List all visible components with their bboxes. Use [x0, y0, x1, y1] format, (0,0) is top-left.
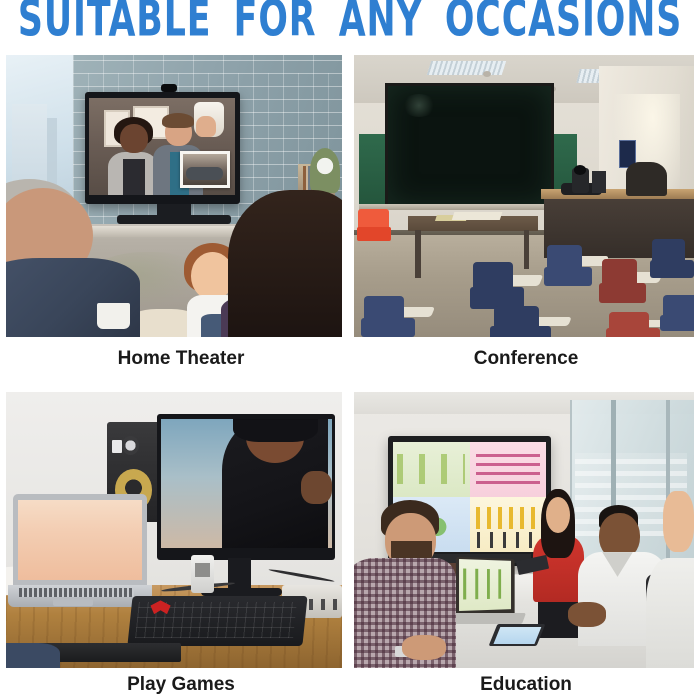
ceiling-vent — [427, 61, 506, 75]
table-leg — [415, 230, 420, 278]
presenter-face — [546, 497, 570, 533]
person-leg — [6, 643, 60, 668]
chair-seat — [544, 267, 592, 286]
home-theater-photo — [6, 55, 342, 337]
caller-shirt — [123, 159, 145, 196]
speaker-port — [112, 440, 122, 452]
desk-chair — [470, 258, 524, 309]
chair-seat — [599, 283, 647, 303]
desk-chair — [599, 255, 647, 303]
laptop-screen-content — [463, 568, 509, 599]
ceiling-light — [483, 71, 491, 77]
chair-seat — [490, 326, 551, 337]
caption-play-games: Play Games — [0, 674, 362, 696]
table-tablet-screen — [493, 627, 540, 644]
screen-person-hat — [233, 419, 318, 442]
foreground-person-hand — [402, 635, 446, 660]
tv-camera-icon — [161, 84, 178, 91]
play-games-photo — [6, 392, 342, 668]
attendee-shirt — [646, 558, 694, 668]
display-quadrant-bar-chart — [470, 442, 547, 497]
desk-chair — [544, 241, 592, 286]
caption-education: Education — [356, 674, 696, 696]
chair-seat — [660, 315, 694, 332]
screen-glare — [402, 94, 436, 117]
desk-chair — [490, 303, 551, 337]
panel-conference[interactable] — [354, 55, 694, 337]
page-title: SUITABLE FOR ANY OCCASIONS — [0, 0, 700, 42]
laptop-keyboard — [19, 588, 133, 597]
plant — [310, 148, 340, 193]
panel-education[interactable] — [354, 392, 694, 668]
laptop-screen — [18, 500, 142, 580]
chair-seat — [606, 328, 660, 337]
table-leg — [524, 230, 529, 269]
desk-chair — [660, 292, 694, 331]
picture-in-picture — [180, 151, 230, 188]
television — [85, 92, 240, 205]
waving-hand — [196, 116, 217, 137]
bag — [626, 162, 667, 196]
pip-sofa — [186, 167, 223, 181]
desk-chair — [361, 292, 415, 337]
panel-play-games[interactable] — [6, 392, 342, 668]
tv-screen — [89, 98, 236, 195]
caller-hair — [162, 113, 194, 129]
microphone-grill — [195, 563, 210, 577]
caption-home-theater: Home Theater — [0, 348, 362, 370]
caption-conference: Conference — [356, 348, 696, 370]
chair-seat — [650, 260, 694, 278]
projector-lens — [574, 165, 586, 175]
podium-equipment — [592, 171, 606, 194]
attendee-arm — [663, 491, 694, 552]
desk-chair — [606, 309, 660, 337]
monitor-screen — [161, 419, 332, 548]
red-chair-seat — [357, 227, 391, 241]
coffee-cup — [97, 303, 131, 328]
conference-photo — [354, 55, 694, 337]
paper-stack — [451, 212, 501, 220]
computer-monitor — [157, 414, 335, 560]
woman-hair — [228, 190, 342, 337]
desk-chair — [650, 235, 694, 277]
chair-seat — [361, 318, 415, 337]
monitor-stand-neck — [228, 558, 252, 591]
laptop-trackpad — [53, 599, 93, 606]
caller-face — [120, 124, 148, 153]
screen-person-hand — [301, 471, 332, 504]
attendee-hand — [568, 602, 605, 627]
laptop-base — [447, 613, 526, 624]
display-quadrant-plants — [393, 442, 470, 497]
tv-stand-base — [117, 215, 231, 225]
page-title-text: SUITABLE FOR ANY OCCASIONS — [18, 0, 682, 44]
education-photo — [354, 392, 694, 668]
panel-home-theater[interactable] — [6, 55, 342, 337]
